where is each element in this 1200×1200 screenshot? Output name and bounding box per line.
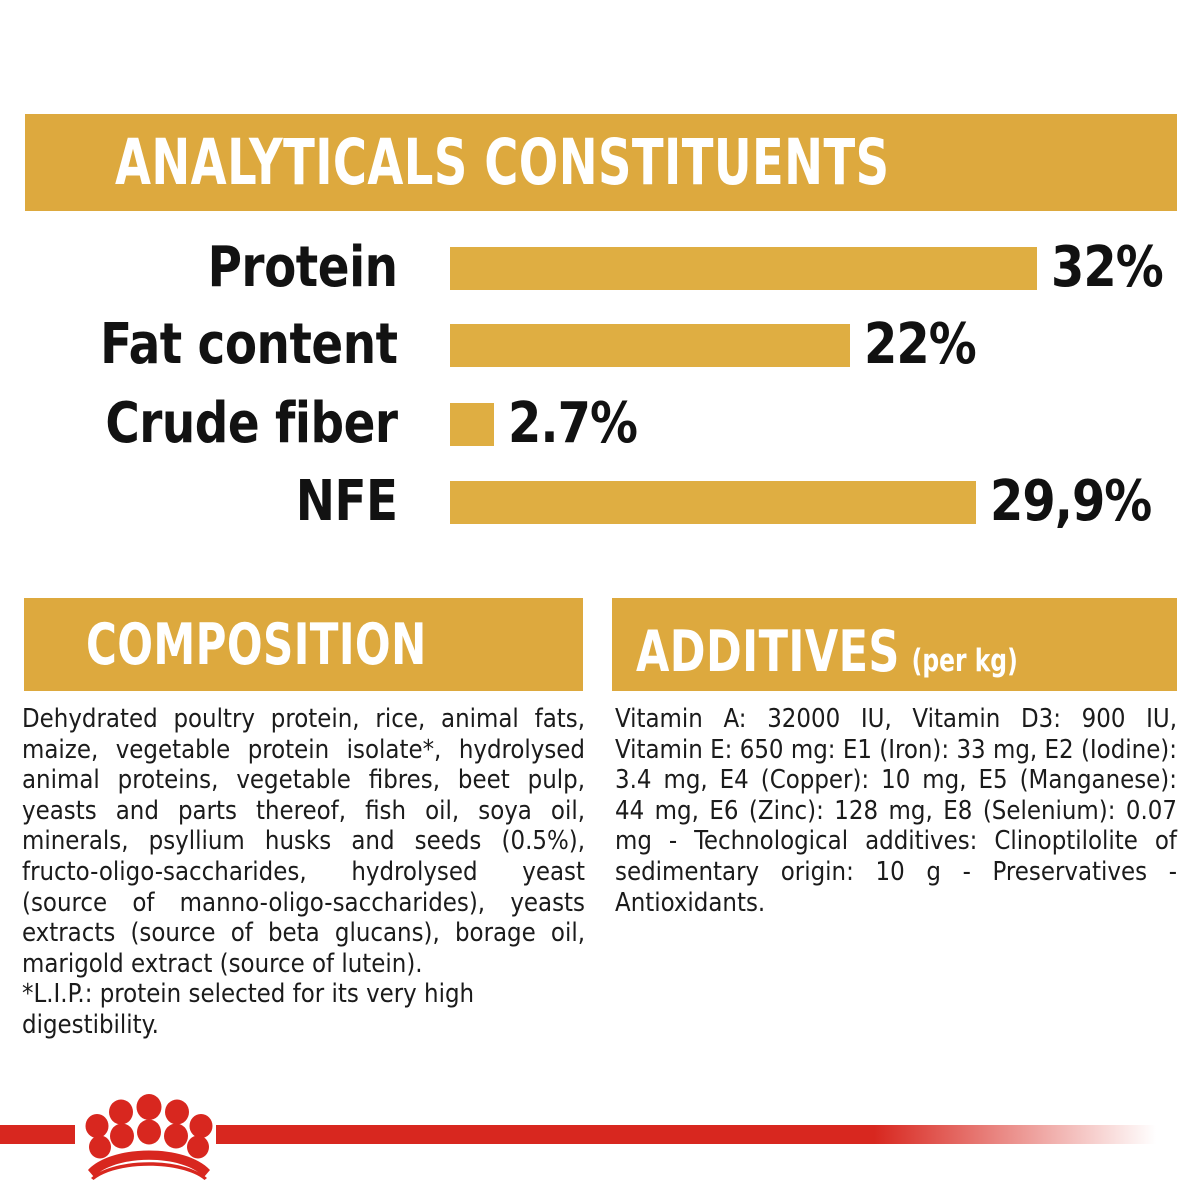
additives-banner: ADDITIVES (per kg) — [612, 598, 1177, 691]
chart-label-crude-fiber: Crude fiber — [28, 396, 405, 452]
chart-bar-nfe — [450, 481, 976, 524]
royal-canin-crown-icon — [84, 1094, 214, 1180]
composition-banner: COMPOSITION — [24, 598, 583, 691]
nutrition-panel: ANALYTICALS CONSTITUENTS Protein 32% Fat… — [0, 0, 1200, 1200]
additives-body: Vitamin A: 32000 IU, Vitamin D3: 900 IU,… — [615, 704, 1177, 918]
chart-row-crude-fiber: Crude fiber 2.7% — [0, 396, 1200, 452]
chart-value-protein: 32% — [1051, 240, 1163, 296]
chart-bar-wrap-fat-content: 22% — [450, 317, 982, 373]
chart-label-protein: Protein — [28, 240, 405, 296]
footer-rule-right — [216, 1125, 1156, 1144]
chart-label-fat-content: Fat content — [28, 317, 405, 373]
footer-logo-strip — [0, 1090, 1200, 1200]
chart-bar-crude-fiber — [450, 403, 494, 446]
analyticals-constituents-title: ANALYTICALS CONSTITUENTS — [115, 126, 889, 199]
chart-value-fat-content: 22% — [864, 317, 976, 373]
chart-label-nfe: NFE — [28, 474, 405, 530]
composition-title: COMPOSITION — [86, 612, 427, 678]
composition-footnote: *L.I.P.: protein selected for its very h… — [22, 979, 585, 1040]
chart-row-nfe: NFE 29,9% — [0, 474, 1200, 530]
chart-row-fat-content: Fat content 22% — [0, 317, 1200, 373]
chart-bar-protein — [450, 247, 1037, 290]
chart-bar-wrap-nfe: 29,9% — [450, 474, 1160, 530]
chart-bar-wrap-crude-fiber: 2.7% — [450, 396, 644, 452]
composition-body: Dehydrated poultry protein, rice, animal… — [22, 704, 585, 979]
chart-bar-fat-content — [450, 324, 850, 367]
chart-row-protein: Protein 32% — [0, 240, 1200, 296]
analyticals-constituents-banner: ANALYTICALS CONSTITUENTS — [25, 114, 1177, 211]
additives-title-group: ADDITIVES (per kg) — [636, 598, 1018, 664]
additives-title: ADDITIVES — [636, 619, 900, 685]
chart-value-crude-fiber: 2.7% — [508, 396, 637, 452]
additives-text-block: Vitamin A: 32000 IU, Vitamin D3: 900 IU,… — [615, 704, 1177, 918]
analyticals-bar-chart: Protein 32% Fat content 22% Crude fiber … — [0, 240, 1200, 550]
chart-bar-wrap-protein: 32% — [450, 240, 1169, 296]
footer-rule-left — [0, 1125, 75, 1144]
additives-per-kg-label: (per kg) — [912, 643, 1018, 679]
chart-value-nfe: 29,9% — [990, 474, 1151, 530]
composition-text-block: Dehydrated poultry protein, rice, animal… — [22, 704, 585, 1041]
